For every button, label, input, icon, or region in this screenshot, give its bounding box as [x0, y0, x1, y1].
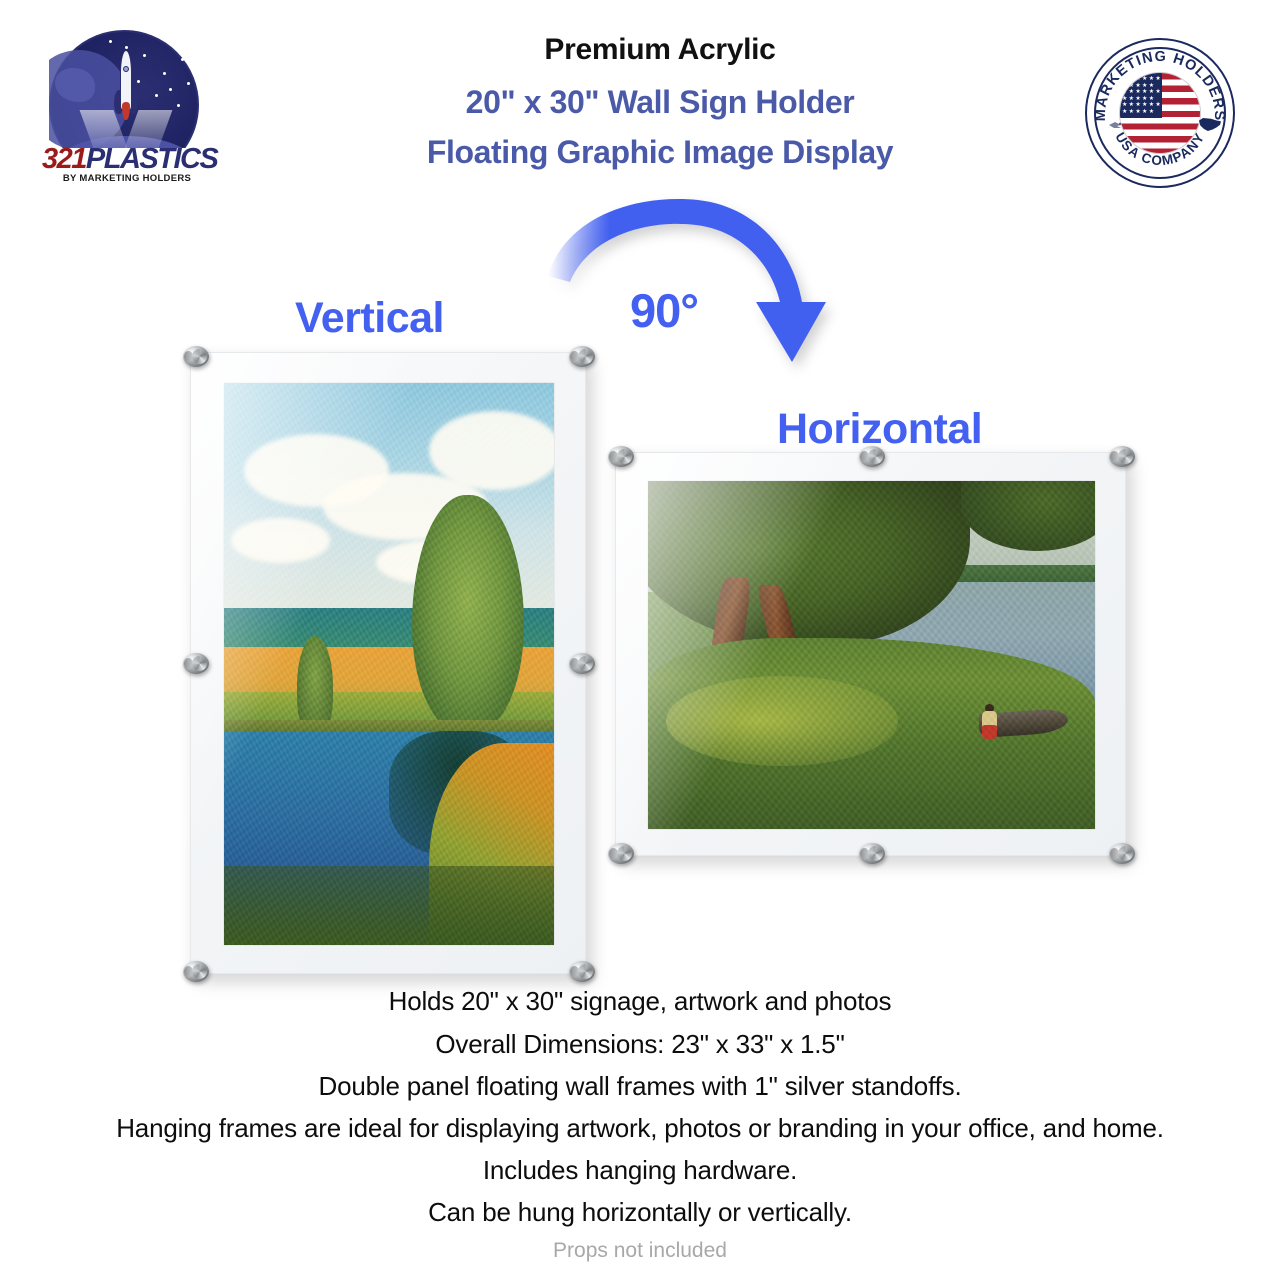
page-subtitle-line1: 20" x 30" Wall Sign Holder — [300, 84, 1020, 121]
standoff-mid-right — [569, 653, 595, 674]
vertical-acrylic-frame — [190, 352, 586, 974]
description-line: Holds 20" x 30" signage, artwork and pho… — [0, 986, 1280, 1017]
horizontal-frame-artwork — [648, 481, 1095, 829]
usa-company-badge: ★★★★★★★★★★★★★★★★★★★★★★★★★★★★★★★★★ MARKET… — [1085, 38, 1235, 188]
standoff-bottom-right — [1109, 843, 1135, 864]
page-subtitle-line2: Floating Graphic Image Display — [300, 134, 1020, 171]
svg-text:MARKETING HOLDERS: MARKETING HOLDERS — [1093, 49, 1227, 122]
brand-tagline: BY MARKETING HOLDERS — [42, 173, 212, 184]
brand-wordmark: 321PLASTICS — [42, 145, 212, 174]
product-infographic: 321PLASTICS BY MARKETING HOLDERS Premium… — [0, 0, 1280, 1280]
standoff-top-right — [1109, 446, 1135, 467]
svg-text:USA COMPANY: USA COMPANY — [1112, 130, 1207, 168]
standoff-bottom-left — [608, 843, 634, 864]
description-line: Includes hanging hardware. — [0, 1155, 1280, 1186]
standoff-mid-left — [183, 653, 209, 674]
standoff-top-left — [608, 446, 634, 467]
description-line: Hanging frames are ideal for displaying … — [0, 1113, 1280, 1144]
brand-wordmark-number: 321 — [42, 143, 86, 175]
horizontal-acrylic-frame — [615, 452, 1126, 856]
vertical-label: Vertical — [295, 294, 444, 343]
description-line: Double panel floating wall frames with 1… — [0, 1071, 1280, 1102]
standoff-bottom-center — [859, 843, 885, 864]
badge-curved-text: MARKETING HOLDERS USA COMPANY — [1085, 38, 1235, 188]
description-line: Can be hung horizontally or vertically. — [0, 1197, 1280, 1228]
standoff-top-right — [569, 346, 595, 367]
brand-wordmark-text: PLASTICS — [86, 143, 217, 175]
rotation-degrees-label: 90° — [630, 283, 698, 338]
props-disclaimer: Props not included — [0, 1239, 1280, 1263]
brand-logo-321plastics: 321PLASTICS BY MARKETING HOLDERS — [42, 30, 212, 190]
horizontal-label: Horizontal — [777, 405, 982, 454]
description-line: Overall Dimensions: 23" x 33" x 1.5" — [0, 1029, 1280, 1060]
page-title: Premium Acrylic — [300, 33, 1020, 67]
standoff-bottom-right — [569, 961, 595, 982]
standoff-bottom-left — [183, 961, 209, 982]
standoff-top-center — [859, 446, 885, 467]
rocket-globe-icon — [49, 30, 199, 148]
standoff-top-left — [183, 346, 209, 367]
vertical-frame-artwork — [224, 383, 554, 945]
